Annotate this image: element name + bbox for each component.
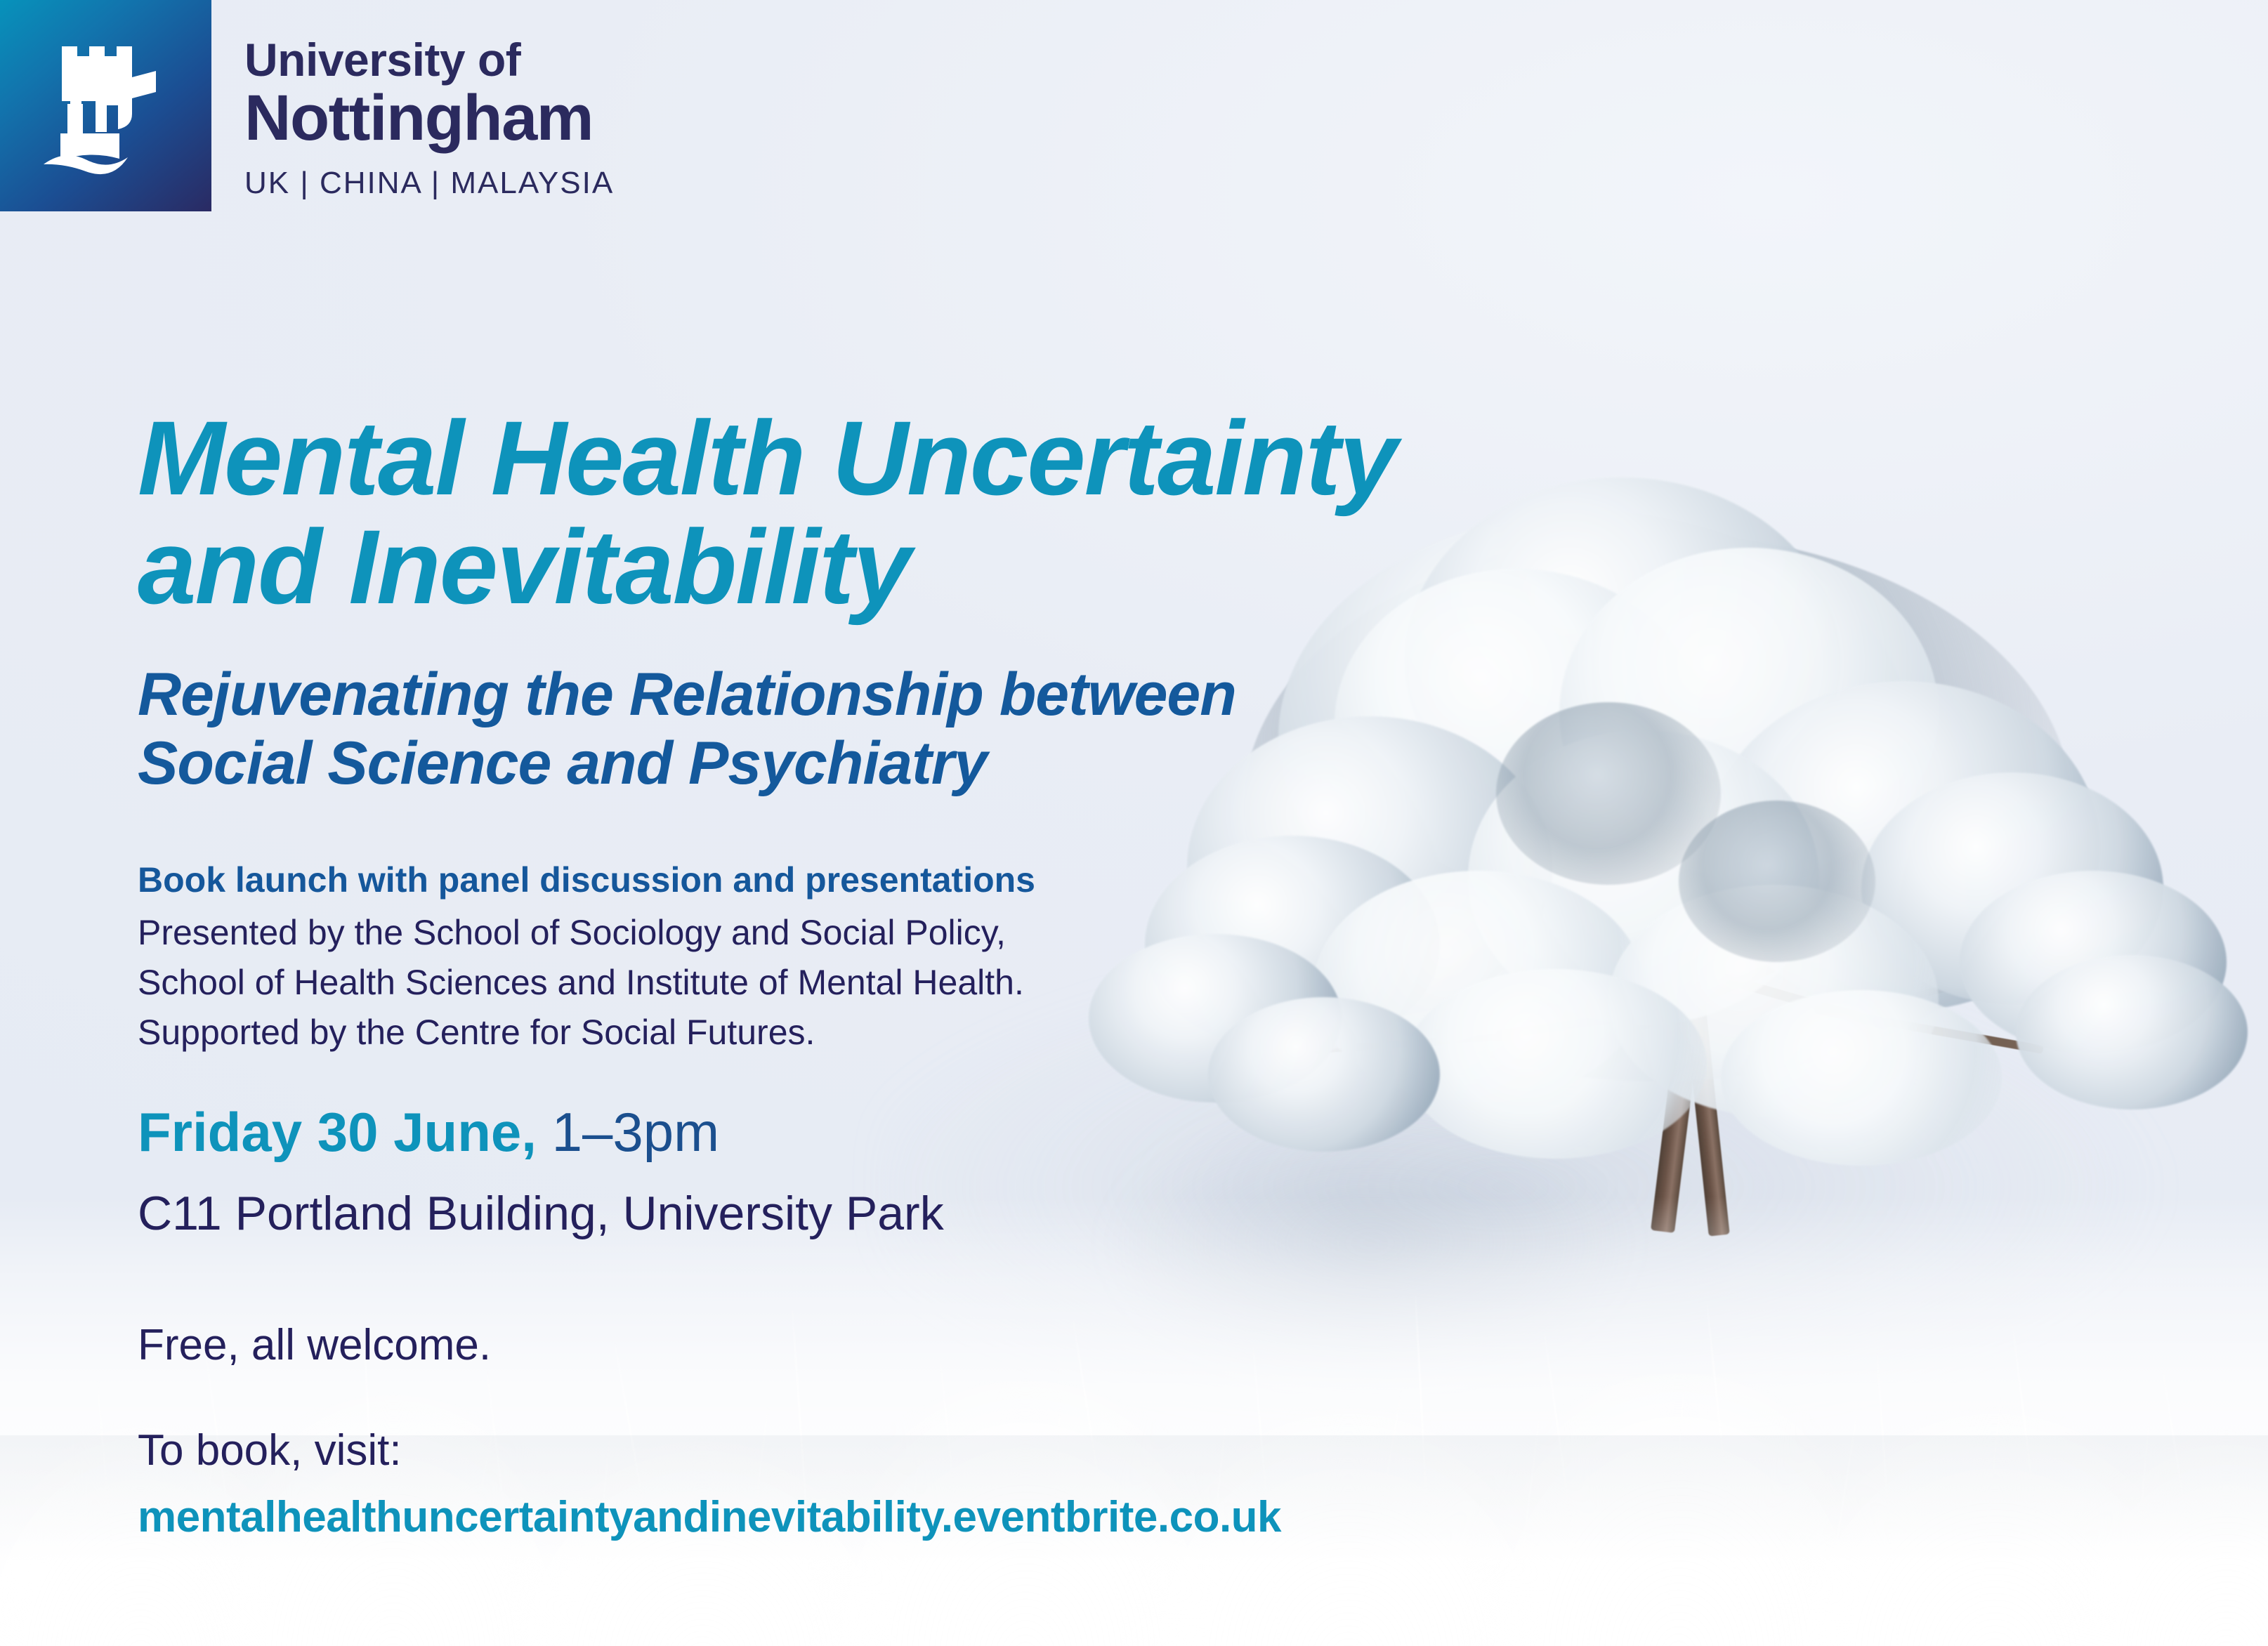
title-line-2: and Inevitability <box>138 513 1542 621</box>
event-datetime: Friday 30 June, 1–3pm <box>138 1102 1472 1163</box>
booking-url-link[interactable]: mentalhealthuncertaintyandinevitability.… <box>138 1492 1964 1542</box>
event-poster: University of Nottingham UK | CHINA | MA… <box>0 0 2268 1646</box>
description-line-1: Presented by the School of Sociology and… <box>138 908 1332 958</box>
wordmark-line-nottingham: Nottingham <box>244 86 736 150</box>
event-description: Book launch with panel discussion and pr… <box>138 855 1332 1058</box>
subtitle-line-2: Social Science and Psychiatry <box>138 729 1472 798</box>
event-venue: C11 Portland Building, University Park <box>138 1187 1472 1240</box>
nottingham-castle-tower-logo-icon <box>37 37 177 184</box>
university-logo-block <box>0 0 211 211</box>
description-line-2: School of Health Sciences and Institute … <box>138 958 1332 1008</box>
page-subtitle: Rejuvenating the Relationship between So… <box>138 660 1472 798</box>
description-line-3: Supported by the Centre for Social Futur… <box>138 1008 1332 1058</box>
winter-tree-photograph <box>0 0 2268 1646</box>
event-time: 1–3pm <box>552 1101 720 1163</box>
booking-label: To book, visit: <box>138 1426 1472 1475</box>
wordmark-line-university-of: University of <box>244 37 736 83</box>
title-line-1: Mental Health Uncertainty <box>138 404 1542 513</box>
description-lead: Book launch with panel discussion and pr… <box>138 855 1332 905</box>
event-date: Friday 30 June, <box>138 1101 537 1163</box>
admission-note: Free, all welcome. <box>138 1320 1472 1370</box>
subtitle-line-1: Rejuvenating the Relationship between <box>138 660 1472 729</box>
university-wordmark: University of Nottingham UK | CHINA | MA… <box>244 37 736 201</box>
wordmark-campuses: UK | CHINA | MALAYSIA <box>244 166 736 201</box>
frosted-grass-foreground <box>0 1197 2268 1646</box>
page-title: Mental Health Uncertainty and Inevitabil… <box>138 404 1542 621</box>
